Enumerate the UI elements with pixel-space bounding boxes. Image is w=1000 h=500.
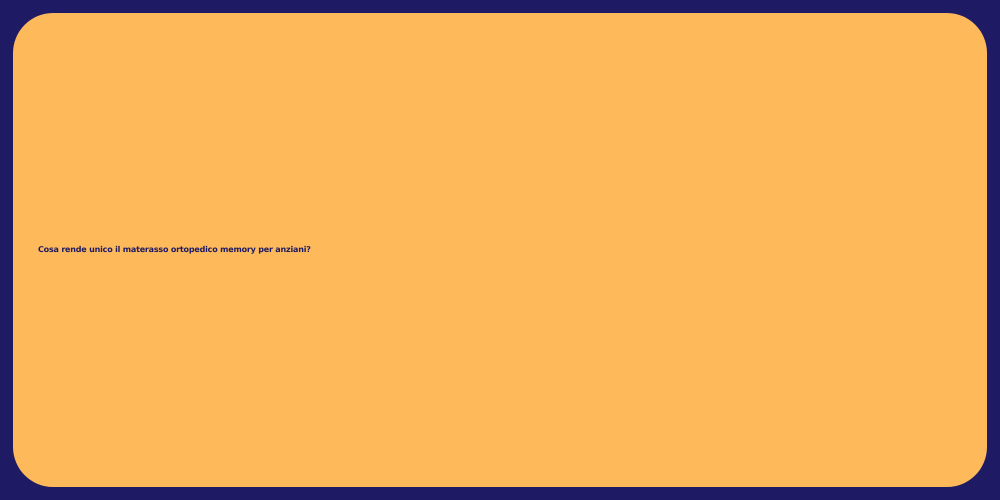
faq-panel: Cosa rende unico il materasso ortopedico… <box>13 13 987 487</box>
faq-question-text: Cosa rende unico il materasso ortopedico… <box>13 245 987 255</box>
faq-card: Cosa rende unico il materasso ortopedico… <box>0 0 1000 500</box>
